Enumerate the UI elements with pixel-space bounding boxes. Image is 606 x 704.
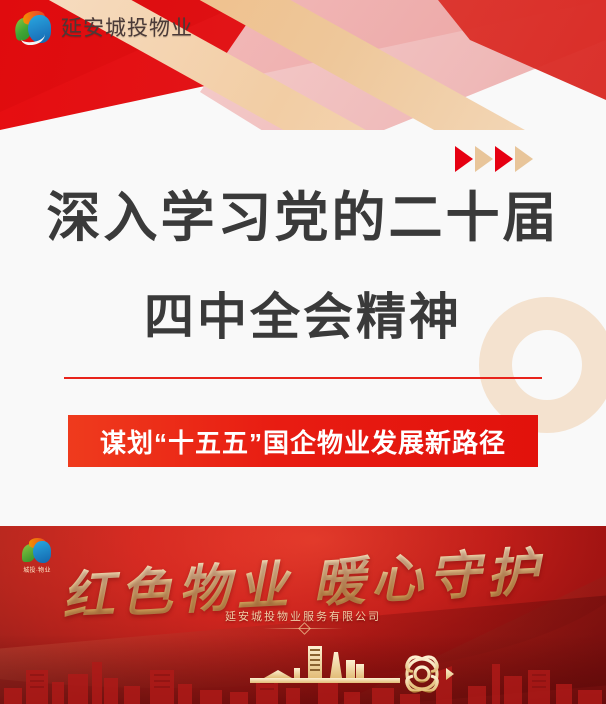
golden-key-icon [250,640,470,700]
footer-company-name: 延安城投物业服务有限公司 [0,608,606,624]
arrow-right-red-icon [455,146,473,172]
arrow-right-red-icon [495,146,513,172]
arrow-group [455,146,533,172]
page-title-line-1: 深入学习党的二十届 [0,191,606,245]
poster-root: 延安城投物业 深入学习党的二十届 四中全会精神 谋划“十五五”国企物业发展新路径… [0,0,606,704]
brand-logo: 延安城投物业 [14,10,193,44]
subtitle-text: 谋划“十五五”国企物业发展新路径 [100,423,506,460]
title-divider [64,377,542,379]
subtitle-banner: 谋划“十五五”国企物业发展新路径 [68,415,538,467]
page-title-line-2: 四中全会精神 [0,292,606,342]
company-swirl-logo-icon [14,10,52,44]
arrow-right-tan-icon [475,146,493,172]
brand-name: 延安城投物业 [61,12,193,42]
logo-swoosh [20,27,45,46]
arrow-right-tan-icon [515,146,533,172]
